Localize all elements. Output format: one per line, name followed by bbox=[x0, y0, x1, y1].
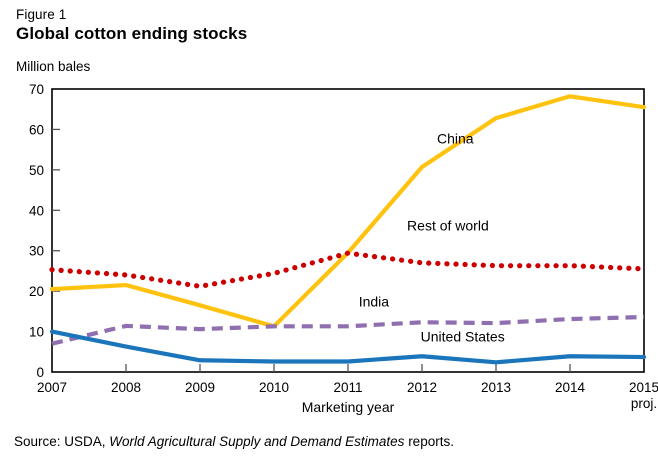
x-tick-label: 2013 bbox=[481, 380, 511, 395]
x-tick-label: 2014 bbox=[555, 380, 586, 395]
y-axis-tick-labels: 010203040506070 bbox=[29, 82, 44, 380]
line-chart: 010203040506070 200720082009201020112012… bbox=[0, 0, 658, 459]
x-tick-label: 2011 bbox=[333, 380, 362, 395]
y-tick-label: 10 bbox=[29, 325, 44, 340]
chart-container: 010203040506070 200720082009201020112012… bbox=[0, 0, 658, 459]
y-tick-label: 60 bbox=[29, 122, 44, 137]
series-label-rest-of-world: Rest of world bbox=[407, 218, 489, 234]
x-axis-title: Marketing year bbox=[302, 399, 395, 415]
series-label-india: India bbox=[359, 294, 390, 310]
x-tick-label: 2007 bbox=[37, 380, 67, 395]
x-tick-label: 2012 bbox=[407, 380, 437, 395]
source-suffix: reports. bbox=[404, 434, 454, 449]
x-tick-label: 2015 bbox=[629, 380, 658, 395]
y-tick-label: 30 bbox=[29, 244, 44, 259]
y-tick-label: 0 bbox=[36, 365, 44, 380]
x-tick-label: 2008 bbox=[111, 380, 141, 395]
y-tick-label: 70 bbox=[29, 82, 44, 97]
y-tick-label: 50 bbox=[29, 163, 44, 178]
y-tick-label: 40 bbox=[29, 203, 44, 218]
source-note: Source: USDA, World Agricultural Supply … bbox=[14, 433, 454, 450]
x-tick-label: 2009 bbox=[185, 380, 215, 395]
series-label-united-states: United States bbox=[421, 328, 505, 344]
plot-frame bbox=[52, 89, 644, 372]
source-prefix: Source: USDA, bbox=[14, 434, 109, 449]
series-label-china: China bbox=[437, 131, 474, 147]
x-tick-label: 2010 bbox=[259, 380, 289, 395]
source-publication: World Agricultural Supply and Demand Est… bbox=[109, 434, 404, 449]
x-tick-label-sub: proj. bbox=[631, 396, 657, 411]
y-tick-label: 20 bbox=[29, 284, 44, 299]
